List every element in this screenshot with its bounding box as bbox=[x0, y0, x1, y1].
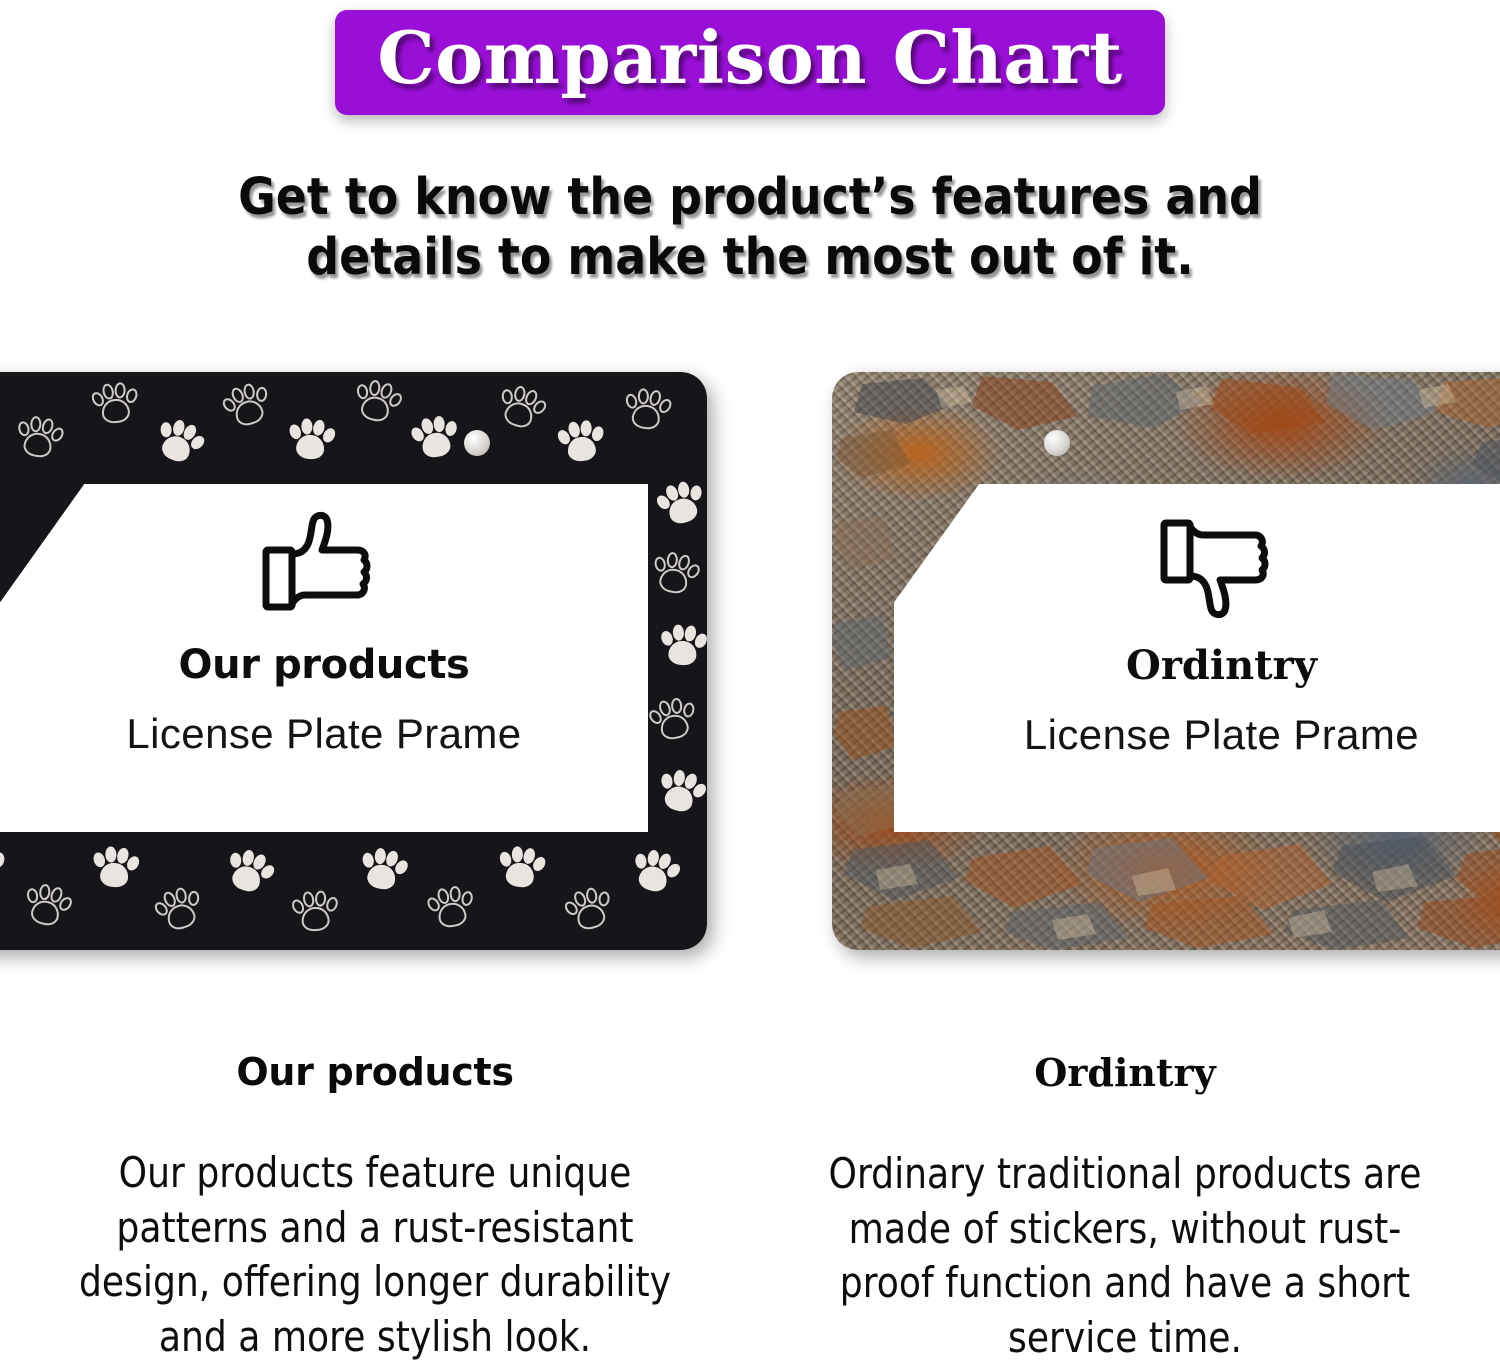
our-products-column: Our products Our products feature unique… bbox=[0, 1022, 750, 1364]
our-product-license-plate-frame: Our products License Plate Prame bbox=[0, 372, 707, 950]
comparison-chart-infographic: Comparison Chart Get to know the product… bbox=[0, 0, 1500, 1364]
subtitle-line-2: details to make the most out of it. bbox=[156, 228, 1344, 288]
ordinary-heading: Ordintry bbox=[750, 1050, 1500, 1095]
ordinary-product-license-plate-frame: Ordintry License Plate Prame bbox=[832, 372, 1500, 950]
left-mounting-hole bbox=[464, 430, 490, 456]
title-banner-area: Comparison Chart bbox=[0, 10, 1500, 115]
our-products-heading: Our products bbox=[0, 1050, 750, 1094]
our-products-description: Our products feature unique patterns and… bbox=[78, 1146, 671, 1364]
left-plate-window bbox=[0, 484, 648, 832]
page-title: Comparison Chart bbox=[377, 16, 1122, 101]
subtitle: Get to know the product’s features and d… bbox=[156, 168, 1344, 287]
title-banner: Comparison Chart bbox=[335, 10, 1164, 115]
ordinary-column: Ordintry Ordinary traditional products a… bbox=[750, 1022, 1500, 1364]
right-mounting-hole bbox=[1044, 430, 1070, 456]
description-columns: Our products Our products feature unique… bbox=[0, 1022, 1500, 1364]
right-plate-window bbox=[894, 484, 1500, 832]
ordinary-description: Ordinary traditional products are made o… bbox=[828, 1147, 1421, 1364]
subtitle-line-1: Get to know the product’s features and bbox=[156, 168, 1344, 228]
product-frames-row: Our products License Plate Prame bbox=[0, 372, 1500, 950]
